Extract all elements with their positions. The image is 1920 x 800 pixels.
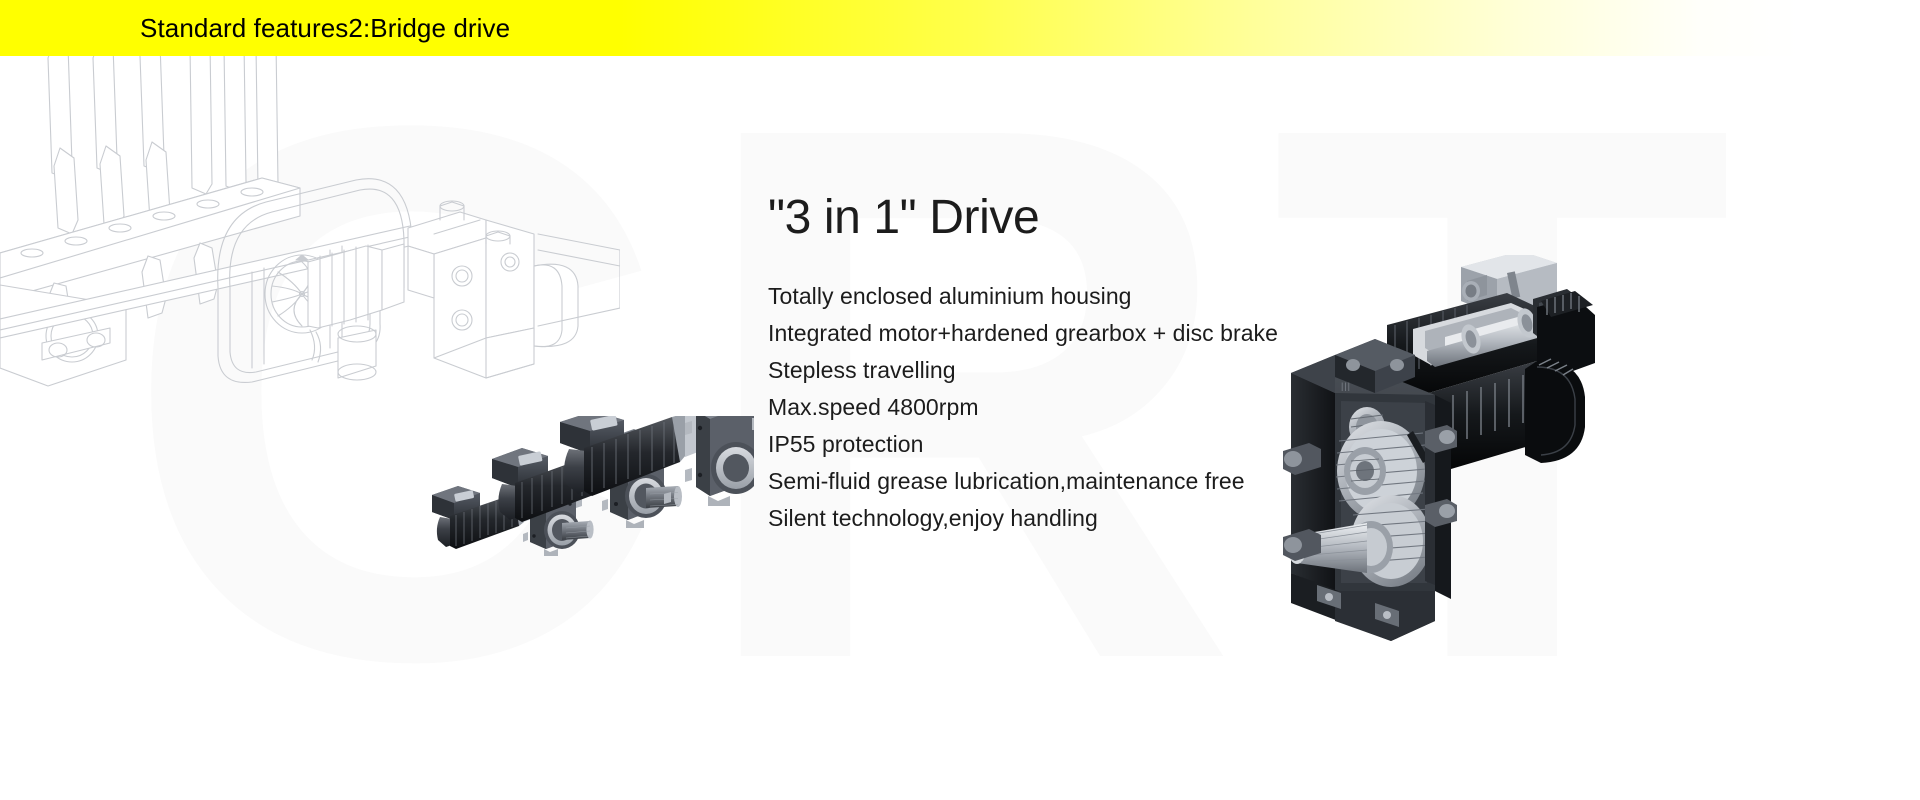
feature-item: Totally enclosed aluminium housing [768, 278, 1388, 315]
feature-item: IP55 protection [768, 426, 1388, 463]
feature-list: Totally enclosed aluminium housing Integ… [768, 278, 1388, 537]
feature-item: Silent technology,enjoy handling [768, 500, 1388, 537]
feature-item: Semi-fluid grease lubrication,maintenanc… [768, 463, 1388, 500]
feature-item: Stepless travelling [768, 352, 1388, 389]
banner-title: Standard features2:Bridge drive [140, 0, 510, 56]
feature-item: Integrated motor+hardened grearbox + dis… [768, 315, 1388, 352]
page-title: "3 in 1" Drive [768, 188, 1388, 248]
slide-canvas: C R T [0, 0, 1920, 800]
header-banner: Standard features2:Bridge drive [0, 0, 1920, 56]
three-gearmotors-render [424, 416, 754, 666]
feature-item: Max.speed 4800rpm [768, 389, 1388, 426]
feature-text-block: "3 in 1" Drive Totally enclosed aluminiu… [768, 188, 1388, 537]
